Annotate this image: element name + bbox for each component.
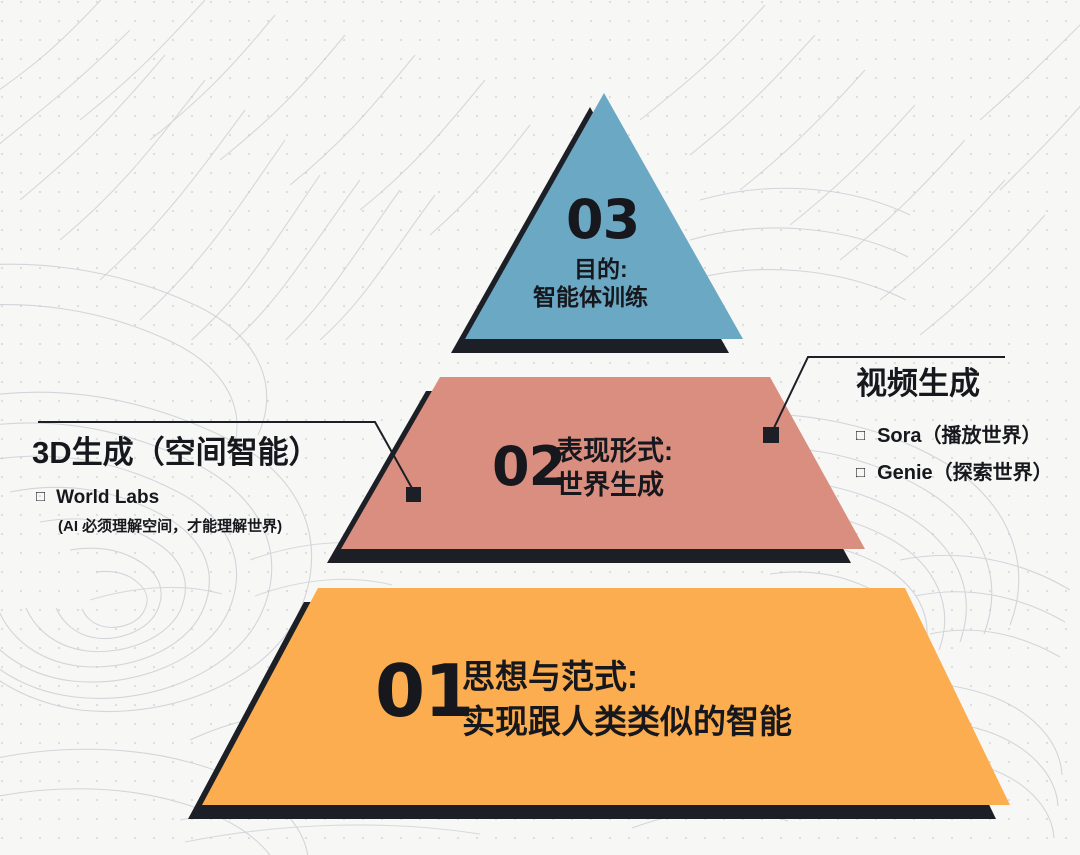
left-annotation-item-1: □World Labs (36, 487, 159, 510)
square-bullet-icon: □ (856, 464, 865, 481)
square-bullet-icon: □ (856, 427, 865, 444)
left-leader-marker (406, 487, 421, 502)
right-annotation-item-1: □Sora（播放世界） (856, 424, 1042, 450)
tier-03-line1: 目的: (574, 256, 628, 282)
left-annotation-item-1-sub: (AI 必须理解空间，才能理解世界) (58, 518, 282, 536)
square-bullet-icon: □ (36, 488, 45, 505)
right-annotation-title: 视频生成 (856, 366, 980, 402)
tier-02-number: 02 (492, 440, 565, 494)
tier-01-number: 01 (375, 655, 473, 727)
right-annotation-item-2: □Genie（探索世界） (856, 461, 1053, 487)
tier-01-line1: 思想与范式: (462, 657, 638, 696)
tier-01-line2: 实现跟人类类似的智能 (462, 702, 792, 741)
tier-03-line2: 智能体训练 (533, 284, 648, 310)
right-annotation-item-1-label: Sora（播放世界） (877, 425, 1041, 447)
right-annotation-item-2-label: Genie（探索世界） (877, 462, 1053, 484)
pyramid-diagram: 03 目的: 智能体训练 02 表现形式: 世界生成 01 思想与范式: 实现跟… (0, 0, 1080, 855)
tier-03-number: 03 (566, 193, 639, 247)
tier-02-line2: 世界生成 (556, 470, 664, 501)
right-leader-marker (763, 427, 779, 443)
left-annotation-title: 3D生成（空间智能） (32, 435, 320, 471)
tier-02-line1: 表现形式: (556, 436, 673, 467)
left-annotation-item-1-label: World Labs (56, 487, 159, 508)
